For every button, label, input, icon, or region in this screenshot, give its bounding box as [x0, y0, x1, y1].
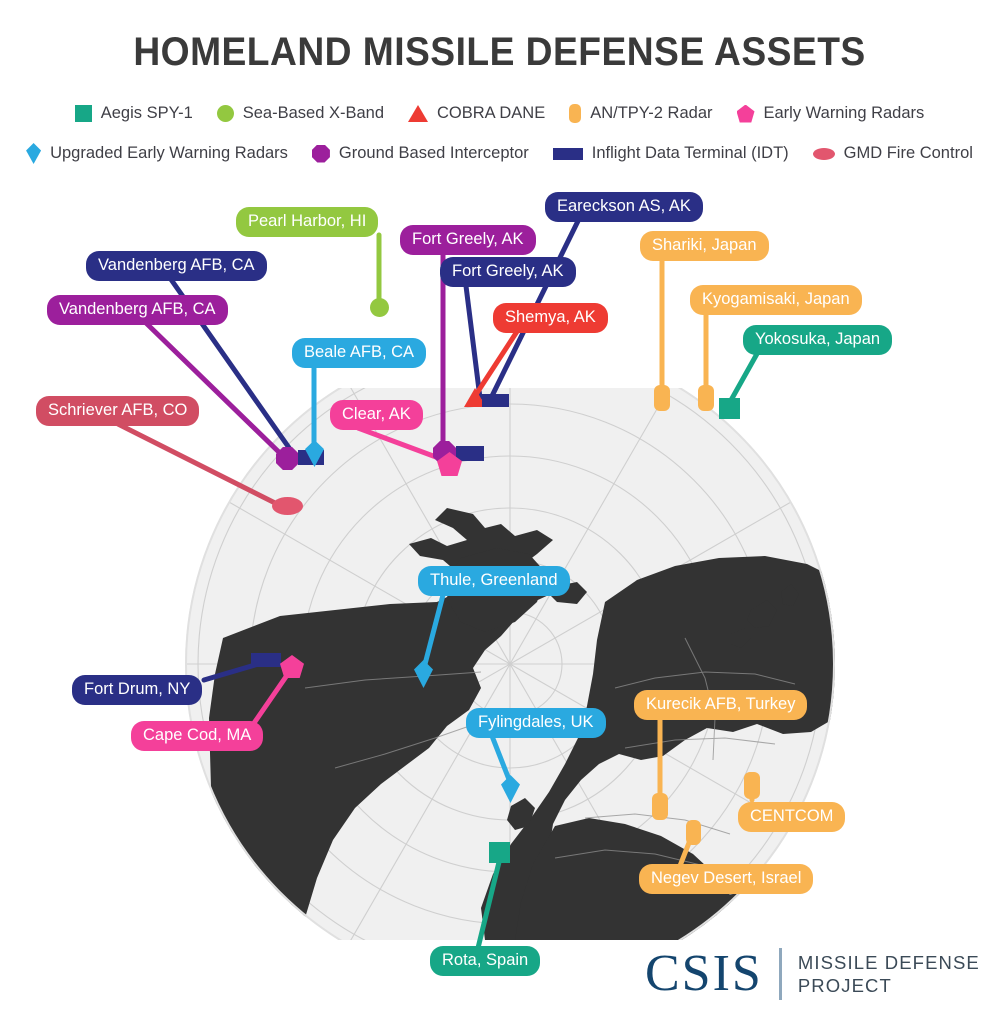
legend-item-cobra-dane: COBRA DANE — [408, 104, 545, 123]
circle-icon — [217, 105, 234, 122]
marker-rota[interactable] — [489, 842, 510, 863]
logo-line-2: PROJECT — [798, 974, 980, 997]
callout-centcom[interactable]: CENTCOM — [738, 802, 845, 832]
callout-yokosuka-japan[interactable]: Yokosuka, Japan — [743, 325, 892, 355]
legend-label: Inflight Data Terminal (IDT) — [592, 144, 789, 163]
pentagon-icon — [737, 105, 755, 123]
callout-pearl-harbor-hi[interactable]: Pearl Harbor, HI — [236, 207, 378, 237]
legend-item-gmd-fire-control: GMD Fire Control — [813, 144, 973, 163]
callout-vandenberg-afb-ca-gbi[interactable]: Vandenberg AFB, CA — [47, 295, 228, 325]
logo-subtitle: MISSILE DEFENSE PROJECT — [798, 951, 980, 997]
square-icon — [75, 105, 92, 122]
marker-fort-drum-idt[interactable] — [251, 653, 281, 667]
callout-kyogamisaki-japan[interactable]: Kyogamisaki, Japan — [690, 285, 862, 315]
callout-shemya-ak[interactable]: Shemya, AK — [493, 303, 608, 333]
octagon-icon — [312, 145, 330, 163]
marker-kyogamisaki[interactable] — [698, 385, 714, 411]
csis-logo: CSIS MISSILE DEFENSE PROJECT — [645, 948, 980, 1000]
callout-fort-drum-ny[interactable]: Fort Drum, NY — [72, 675, 202, 705]
legend-item-ground-based-interceptor: Ground Based Interceptor — [312, 144, 529, 163]
logo-divider — [779, 948, 782, 1000]
csis-wordmark: CSIS — [645, 948, 763, 1000]
marker-shariki[interactable] — [654, 385, 670, 411]
legend-label: AN/TPY-2 Radar — [590, 104, 712, 123]
legend-row-1: Aegis SPY-1Sea-Based X-BandCOBRA DANEAN/… — [0, 104, 999, 123]
legend-item-inflight-data-terminal-idt: Inflight Data Terminal (IDT) — [553, 144, 789, 163]
marker-fort-greely-idt[interactable] — [456, 446, 484, 461]
marker-pearl-harbor[interactable] — [370, 298, 389, 317]
legend-label: Sea-Based X-Band — [243, 104, 384, 123]
legend-label: Upgraded Early Warning Radars — [50, 144, 288, 163]
callout-fort-greely-ak-gbi[interactable]: Fort Greely, AK — [400, 225, 536, 255]
callout-negev-desert-israel[interactable]: Negev Desert, Israel — [639, 864, 813, 894]
legend-item-sea-based-x-band: Sea-Based X-Band — [217, 104, 384, 123]
callout-beale-afb-ca[interactable]: Beale AFB, CA — [292, 338, 426, 368]
legend-item-upgraded-early-warning-radars: Upgraded Early Warning Radars — [26, 143, 288, 164]
callout-clear-ak[interactable]: Clear, AK — [330, 400, 423, 430]
marker-kurecik[interactable] — [652, 793, 668, 820]
callout-schriever-afb-co[interactable]: Schriever AFB, CO — [36, 396, 199, 426]
marker-schriever-gmd[interactable] — [272, 497, 303, 515]
marker-vandenberg-gbi[interactable] — [276, 447, 299, 470]
legend-item-early-warning-radars: Early Warning Radars — [737, 104, 925, 123]
page-title: HOMELAND MISSILE DEFENSE ASSETS — [35, 30, 964, 75]
rounded-rect-icon — [569, 104, 581, 123]
legend-label: Ground Based Interceptor — [339, 144, 529, 163]
marker-eareckson-idt[interactable] — [482, 394, 509, 407]
bar-icon — [553, 148, 583, 160]
legend-item-an-tpy-2-radar: AN/TPY-2 Radar — [569, 104, 712, 123]
legend-label: Early Warning Radars — [764, 104, 925, 123]
legend-row-2: Upgraded Early Warning RadarsGround Base… — [0, 143, 999, 164]
legend-label: GMD Fire Control — [844, 144, 973, 163]
triangle-icon — [408, 105, 428, 122]
legend-item-aegis-spy-1: Aegis SPY-1 — [75, 104, 193, 123]
marker-yokosuka[interactable] — [719, 398, 740, 419]
callout-kurecik-afb-turkey[interactable]: Kurecik AFB, Turkey — [634, 690, 807, 720]
callout-fort-greely-ak-idt[interactable]: Fort Greely, AK — [440, 257, 576, 287]
legend-label: Aegis SPY-1 — [101, 104, 193, 123]
marker-negev[interactable] — [686, 820, 701, 845]
marker-centcom[interactable] — [744, 772, 760, 799]
callout-eareckson-as-ak[interactable]: Eareckson AS, AK — [545, 192, 703, 222]
callout-vandenberg-afb-ca-idt[interactable]: Vandenberg AFB, CA — [86, 251, 267, 281]
diamond-icon — [26, 143, 41, 164]
callout-fylingdales-uk[interactable]: Fylingdales, UK — [466, 708, 606, 738]
callout-shariki-japan[interactable]: Shariki, Japan — [640, 231, 769, 261]
ellipse-icon — [813, 148, 835, 160]
callout-cape-cod-ma[interactable]: Cape Cod, MA — [131, 721, 263, 751]
logo-line-1: MISSILE DEFENSE — [798, 951, 980, 974]
callout-rota-spain[interactable]: Rota, Spain — [430, 946, 540, 976]
callout-thule-greenland[interactable]: Thule, Greenland — [418, 566, 570, 596]
legend-label: COBRA DANE — [437, 104, 545, 123]
